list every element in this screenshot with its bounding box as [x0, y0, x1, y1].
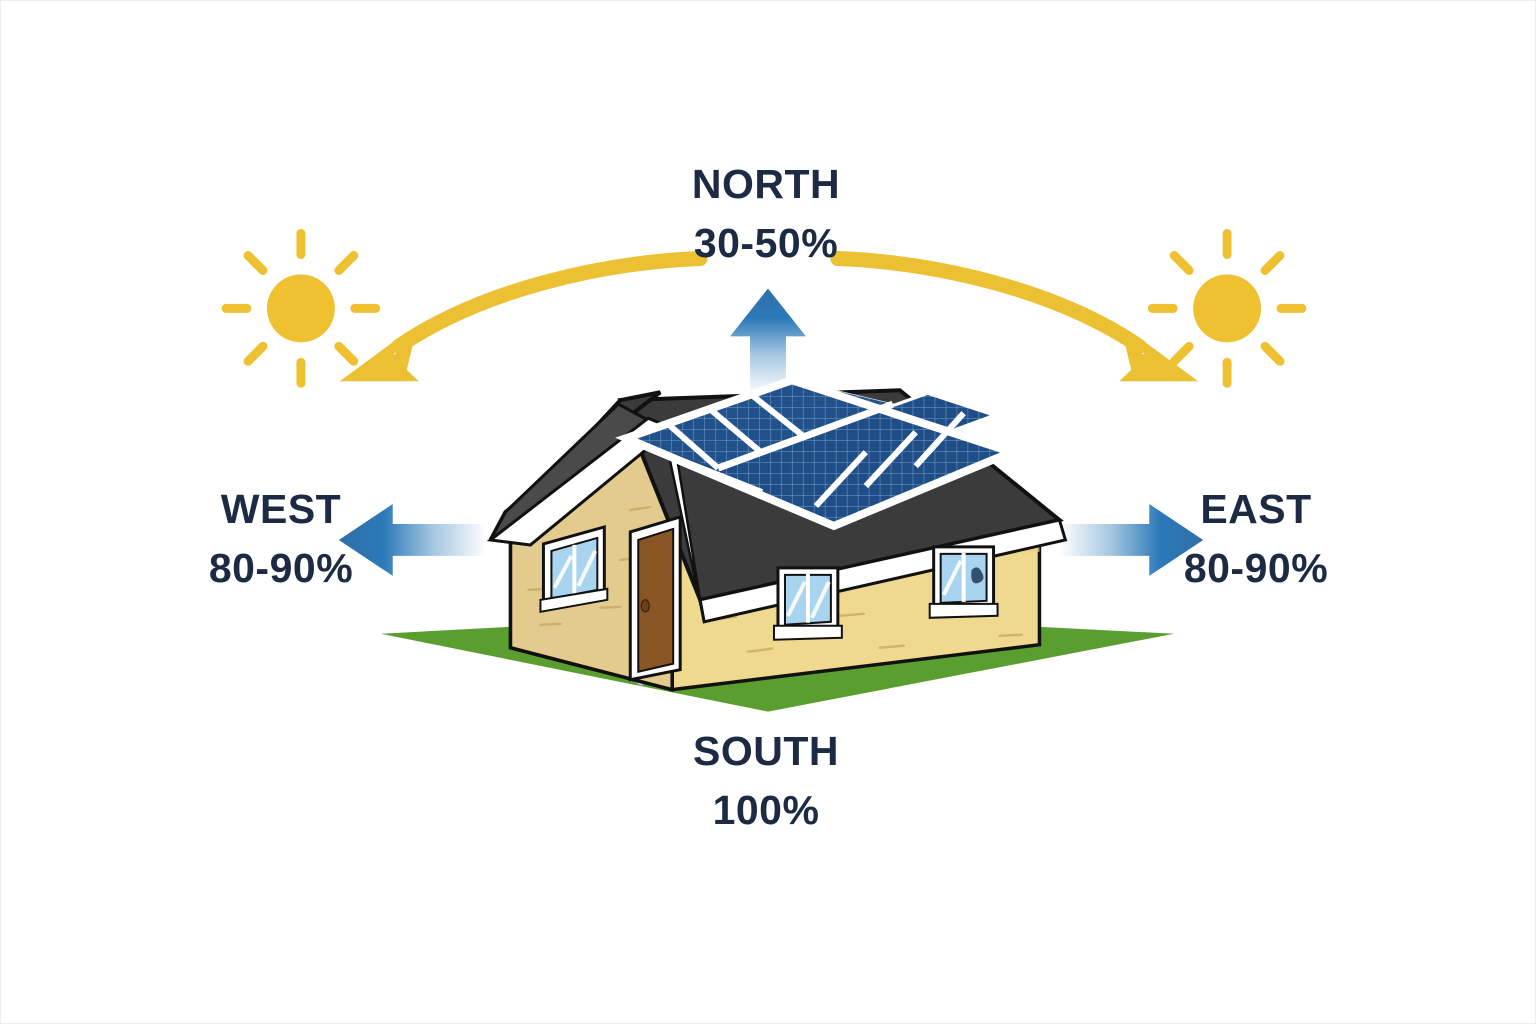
sun-path-arc-left	[340, 258, 700, 381]
east-label: EAST 80-90%	[1131, 489, 1381, 589]
north-label-value: 30-50%	[641, 223, 891, 264]
front-door[interactable]	[630, 517, 680, 680]
house-illustration	[491, 360, 1066, 689]
south-label: SOUTH 100%	[641, 731, 891, 831]
north-label-name: NORTH	[641, 164, 891, 205]
door-knob-icon[interactable]	[641, 600, 649, 612]
sun-icon-left	[226, 234, 376, 384]
west-label-value: 80-90%	[156, 548, 406, 589]
west-label: WEST 80-90%	[156, 489, 406, 589]
side-window-right	[930, 547, 998, 618]
sun-path-arc-right	[838, 258, 1198, 381]
sun-icon-right	[1152, 234, 1302, 384]
east-label-name: EAST	[1131, 489, 1381, 530]
east-label-value: 80-90%	[1131, 548, 1381, 589]
side-window-left	[774, 568, 842, 640]
north-label: NORTH 30-50%	[641, 164, 891, 264]
south-label-value: 100%	[641, 790, 891, 831]
west-label-name: WEST	[156, 489, 406, 530]
south-label-name: SOUTH	[641, 731, 891, 772]
diagram-canvas: NORTH 30-50% SOUTH 100% WEST 80-90% EAST…	[0, 0, 1536, 1024]
